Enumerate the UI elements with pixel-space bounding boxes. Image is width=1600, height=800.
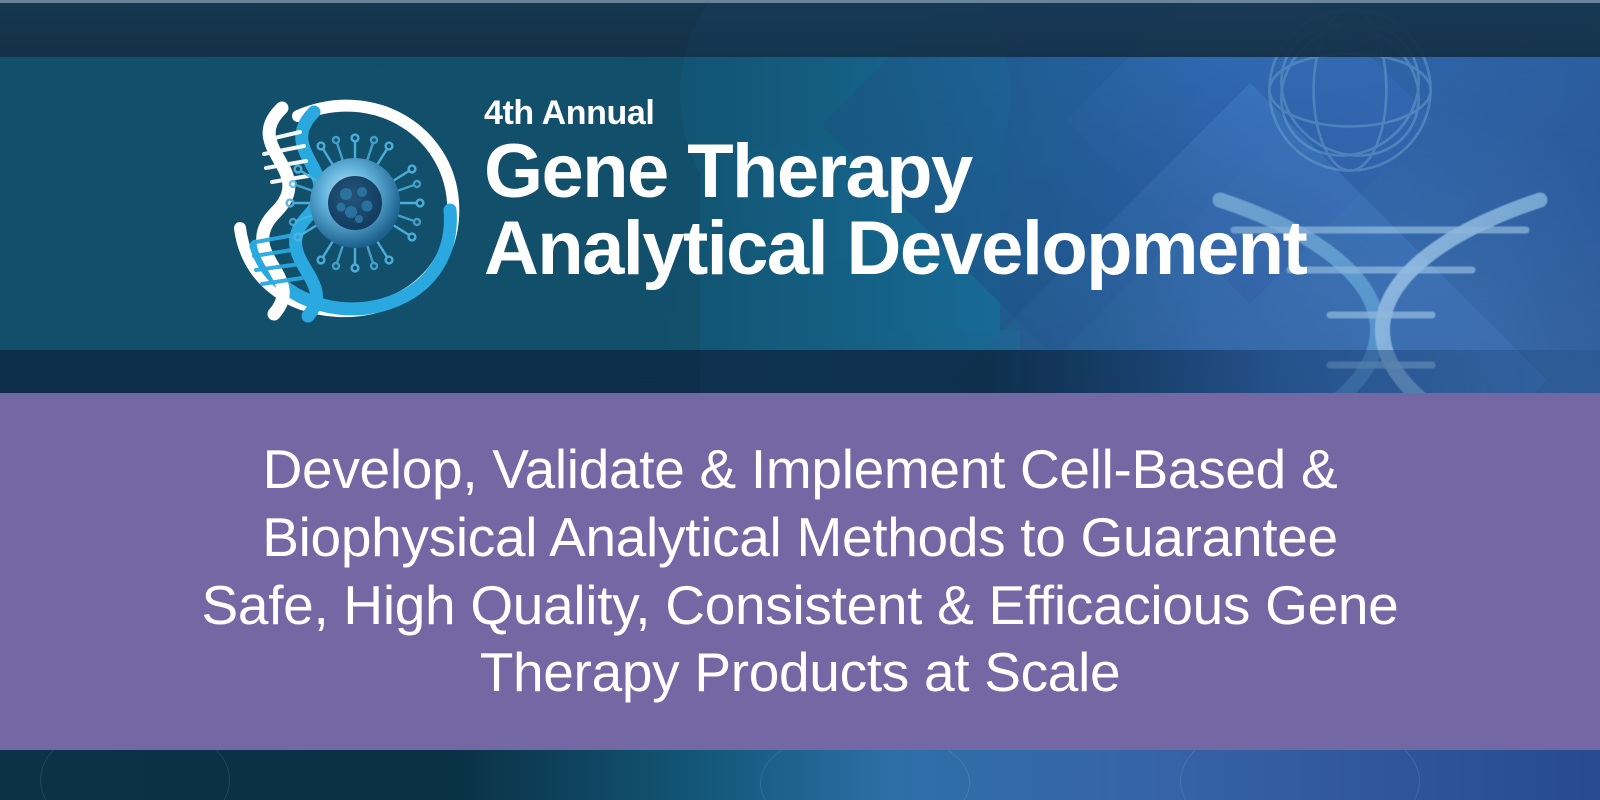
event-logo [222, 78, 467, 323]
subtitle-line-3: Safe, High Quality, Consistent & Efficac… [70, 572, 1530, 640]
dna-double-helix-icon [254, 108, 320, 316]
event-subtitle: Develop, Validate & Implement Cell-Based… [70, 436, 1530, 707]
event-banner: 4th Annual Gene Therapy Analytical Devel… [0, 0, 1600, 800]
top-dark-strip [0, 0, 1600, 57]
subtitle-line-4: Therapy Products at Scale [70, 639, 1530, 707]
masthead-bottom-navy-strip [0, 350, 1600, 393]
event-title-line-2: Analytical Development [484, 213, 1384, 286]
top-hairline [0, 0, 1600, 3]
edition-eyebrow: 4th Annual [484, 96, 1384, 130]
event-title-line-1: Gene Therapy [484, 136, 1384, 209]
bottom-image-strip [0, 750, 1600, 800]
subtitle-purple-band: Develop, Validate & Implement Cell-Based… [0, 393, 1600, 750]
subtitle-line-1: Develop, Validate & Implement Cell-Based… [70, 436, 1530, 504]
event-wordmark: 4th Annual Gene Therapy Analytical Devel… [484, 96, 1384, 286]
subtitle-line-2: Biophysical Analytical Methods to Guaran… [70, 504, 1530, 572]
